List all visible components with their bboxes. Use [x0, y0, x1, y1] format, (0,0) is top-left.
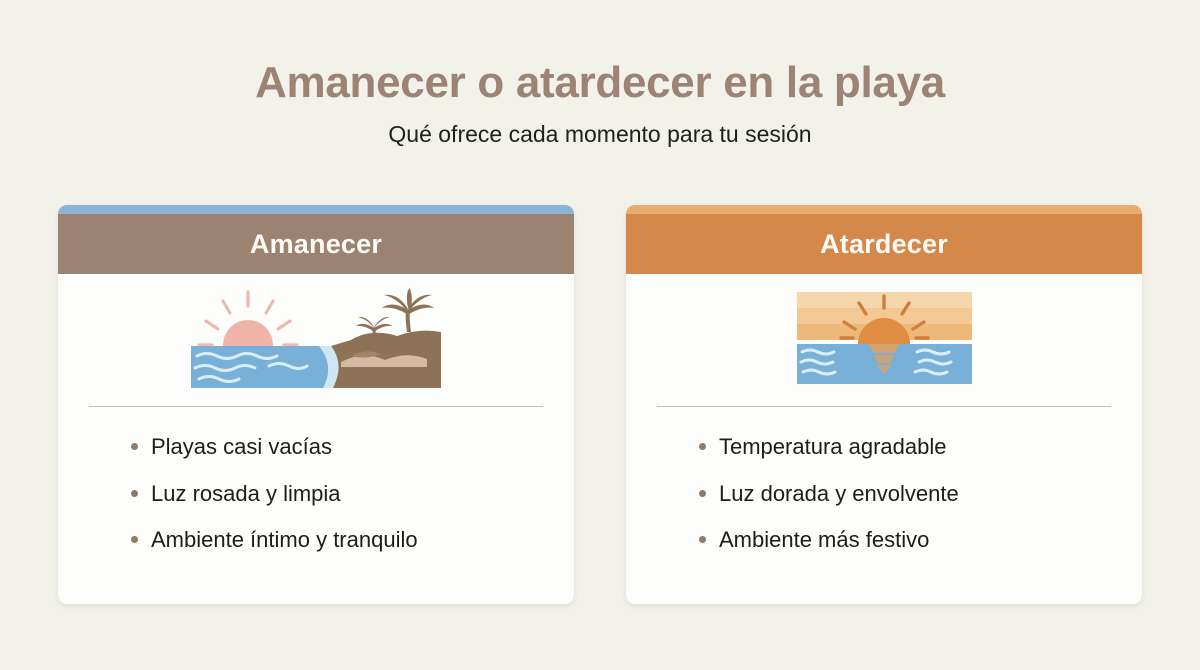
- slide-heading: Amanecer o atardecer en la playa Qué ofr…: [0, 0, 1200, 148]
- bullet-dot-icon: [699, 536, 706, 543]
- bullet-text: Ambiente más festivo: [719, 526, 929, 554]
- bullet-dot-icon: [699, 443, 706, 450]
- card-title-amanecer: Amanecer: [250, 229, 382, 260]
- card-body-atardecer: Temperatura agradable Luz dorada y envol…: [626, 274, 1142, 604]
- card-top-strip-amanecer: [58, 205, 574, 214]
- card-body-amanecer: Playas casi vacías Luz rosada y limpia A…: [58, 274, 574, 604]
- page-subtitle: Qué ofrece cada momento para tu sesión: [0, 121, 1200, 149]
- list-item: Ambiente íntimo y tranquilo: [131, 526, 543, 554]
- bullet-text: Playas casi vacías: [151, 433, 332, 461]
- card-amanecer[interactable]: Amanecer: [58, 205, 574, 604]
- list-item: Ambiente más festivo: [699, 526, 1111, 554]
- bullet-dot-icon: [131, 536, 138, 543]
- bullet-dot-icon: [699, 490, 706, 497]
- comparison-cards: Amanecer: [0, 205, 1200, 604]
- card-header-atardecer: Atardecer: [626, 214, 1142, 274]
- bullet-text: Luz rosada y limpia: [151, 480, 341, 508]
- page-title: Amanecer o atardecer en la playa: [0, 58, 1200, 109]
- slide-canvas: Amanecer o atardecer en la playa Qué ofr…: [0, 0, 1200, 670]
- bullet-dot-icon: [131, 443, 138, 450]
- list-item: Temperatura agradable: [699, 433, 1111, 461]
- list-item: Luz dorada y envolvente: [699, 480, 1111, 508]
- sunset-ocean-icon: [797, 278, 972, 398]
- bullet-list-atardecer: Temperatura agradable Luz dorada y envol…: [657, 433, 1111, 573]
- card-top-strip-atardecer: [626, 205, 1142, 214]
- card-title-atardecer: Atardecer: [820, 229, 948, 260]
- card-atardecer[interactable]: Atardecer: [626, 205, 1142, 604]
- bullet-text: Temperatura agradable: [719, 433, 946, 461]
- card-divider-amanecer: [89, 406, 543, 407]
- bullet-list-amanecer: Playas casi vacías Luz rosada y limpia A…: [89, 433, 543, 573]
- sunrise-beach-icon: [191, 278, 441, 398]
- bullet-text: Luz dorada y envolvente: [719, 480, 959, 508]
- card-divider-atardecer: [657, 406, 1111, 407]
- list-item: Playas casi vacías: [131, 433, 543, 461]
- card-header-amanecer: Amanecer: [58, 214, 574, 274]
- bullet-dot-icon: [131, 490, 138, 497]
- bullet-text: Ambiente íntimo y tranquilo: [151, 526, 418, 554]
- list-item: Luz rosada y limpia: [131, 480, 543, 508]
